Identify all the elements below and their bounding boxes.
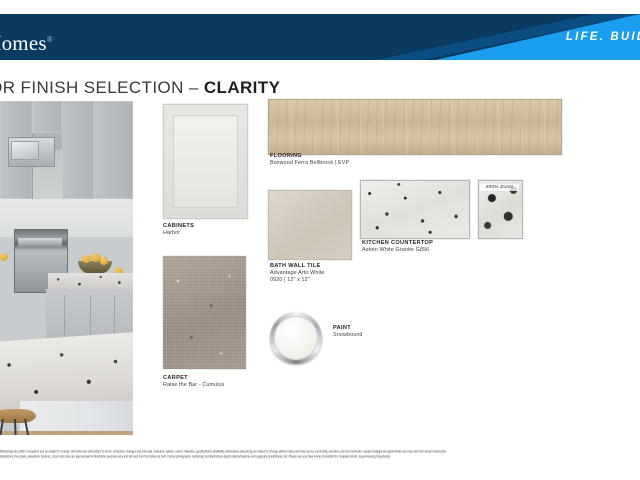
swatch-carpet[interactable] — [163, 256, 246, 369]
label-cabinets: CABINETS Harbor — [163, 223, 194, 237]
photo-upper-cabinet — [62, 101, 95, 199]
footer-line-2: Illustrations, floor plans, elevations, … — [0, 455, 640, 460]
photo-fruit — [0, 253, 8, 261]
label-kitchen-countertop: KITCHEN COUNTERTOP Ashen White Granite G… — [362, 240, 433, 254]
photo-floor — [0, 431, 133, 435]
label-bath-wall-tile-title: BATH WALL TILE — [270, 263, 325, 270]
photo-upper-cabinet — [32, 101, 63, 133]
label-flooring: FLOORING Boxwood Ferra Bellbrook | EVP — [270, 153, 349, 167]
photo-upper-cabinet — [94, 101, 133, 199]
bottom-margin — [0, 472, 640, 480]
photo-island-base — [20, 401, 133, 435]
page-title: IOR FINISH SELECTION – CLARITY — [0, 78, 280, 98]
photo-fruit — [100, 257, 108, 265]
cabinet-door-panel — [173, 115, 238, 208]
label-flooring-desc: Boxwood Ferra Bellbrook | EVP — [270, 160, 349, 167]
swatch-flooring[interactable] — [268, 99, 562, 155]
swatch-cabinets[interactable] — [163, 104, 248, 219]
header-banner: geHomes® LIFE. BUIL — [0, 14, 640, 60]
label-paint-desc: Snowbound — [333, 332, 363, 339]
page-title-prefix: IOR FINISH SELECTION – — [0, 78, 204, 97]
header-tagline: LIFE. BUIL — [566, 31, 640, 43]
label-bath-wall-tile: BATH WALL TILE Advantage Arto White 0920… — [270, 263, 325, 284]
label-cabinets-title: CABINETS — [163, 223, 194, 230]
footer-disclaimer: Renderings are artist's conception and a… — [0, 450, 640, 472]
swatch-bath-wall-tile[interactable] — [268, 190, 352, 260]
label-paint-title: PAINT — [333, 325, 363, 332]
label-bath-wall-tile-desc: Advantage Arto White — [270, 270, 325, 277]
label-carpet-title: CARPET — [163, 375, 224, 382]
label-carpet: CARPET Raise the Bar - Cumulus — [163, 375, 224, 389]
company-logo: geHomes® — [0, 20, 53, 54]
page-title-plan: CLARITY — [204, 78, 280, 97]
photo-barstool-seat — [0, 409, 36, 423]
zoom-label: 400% Zoom — [480, 184, 519, 191]
label-paint: PAINT Snowbound — [333, 325, 363, 339]
label-cabinets-desc: Harbor — [163, 230, 194, 237]
logo-swoosh-icon — [0, 16, 10, 38]
label-carpet-desc: Raise the Bar - Cumulus — [163, 382, 224, 389]
top-margin — [0, 0, 640, 14]
label-flooring-title: FLOORING — [270, 153, 349, 160]
paint-color-face — [274, 316, 318, 360]
label-kitchen-countertop-desc: Ashen White Granite G856 — [362, 247, 433, 254]
label-bath-wall-tile-detail: 0920 | 12" x 12" — [270, 277, 325, 284]
photo-fruit — [82, 255, 91, 263]
label-kitchen-countertop-title: KITCHEN COUNTERTOP — [362, 240, 433, 247]
photo-microwave — [8, 137, 55, 167]
photo-perimeter-countertop — [48, 273, 133, 289]
swatch-kitchen-countertop[interactable] — [360, 180, 470, 239]
finish-selection-sheet: geHomes® LIFE. BUIL IOR FINISH SELECTION… — [0, 0, 640, 480]
logo-trademark: ® — [47, 35, 53, 44]
swatch-paint[interactable] — [270, 312, 322, 364]
kitchen-photo — [0, 101, 133, 435]
